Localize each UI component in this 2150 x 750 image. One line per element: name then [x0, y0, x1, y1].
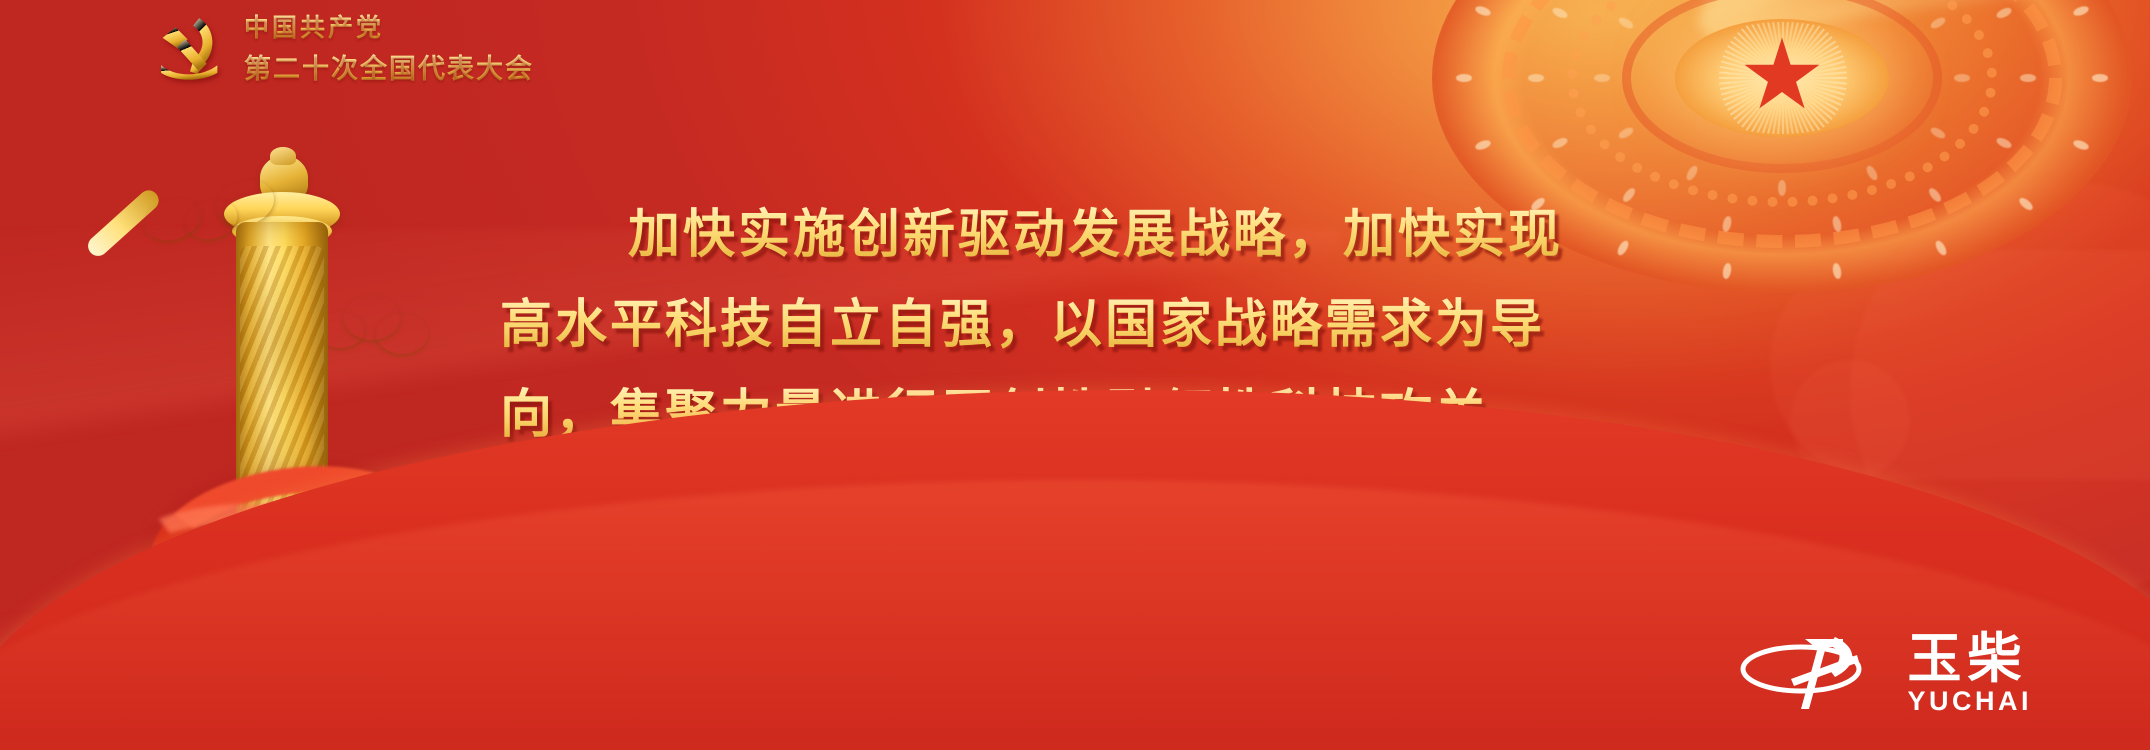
- brand-name-en: YUCHAI: [1907, 688, 2032, 715]
- rosette-lamp: [1528, 74, 1544, 82]
- yuchai-logo: 玉柴 YUCHAI: [1739, 625, 2032, 722]
- org-name: 中国共产党: [244, 8, 534, 44]
- yuchai-ellipse-mark-icon: [1739, 625, 1889, 722]
- congress-title: 中国共产党 第二十次全国代表大会: [244, 8, 534, 86]
- rosette-lamp: [1778, 180, 1786, 196]
- yuchai-wordmark: 玉柴 YUCHAI: [1907, 632, 2032, 715]
- slogan-line-1: 加快实施创新驱动发展战略，加快实现: [500, 190, 1730, 280]
- hammer-and-sickle-icon: [152, 9, 228, 85]
- congress-banner: 中国共产党 第二十次全国代表大会 加快实施创新驱动发展战略，加快实现 高水平科技…: [0, 0, 2150, 750]
- rosette-lamp: [2092, 74, 2108, 82]
- brand-name-cn: 玉柴: [1907, 632, 2027, 686]
- rosette-core: [1675, 19, 1889, 137]
- rosette-lamp: [1456, 74, 1472, 82]
- congress-identity: 中国共产党 第二十次全国代表大会: [152, 8, 534, 86]
- rosette-lamp: [2020, 74, 2036, 82]
- slogan-line-2: 高水平科技自立自强，以国家战略需求为导: [500, 280, 1730, 370]
- congress-session: 第二十次全国代表大会: [244, 47, 534, 86]
- rosette-lamp: [1954, 74, 1970, 82]
- cloud-plate-right-icon: [316, 292, 428, 366]
- rosette-lamp: [1594, 74, 1610, 82]
